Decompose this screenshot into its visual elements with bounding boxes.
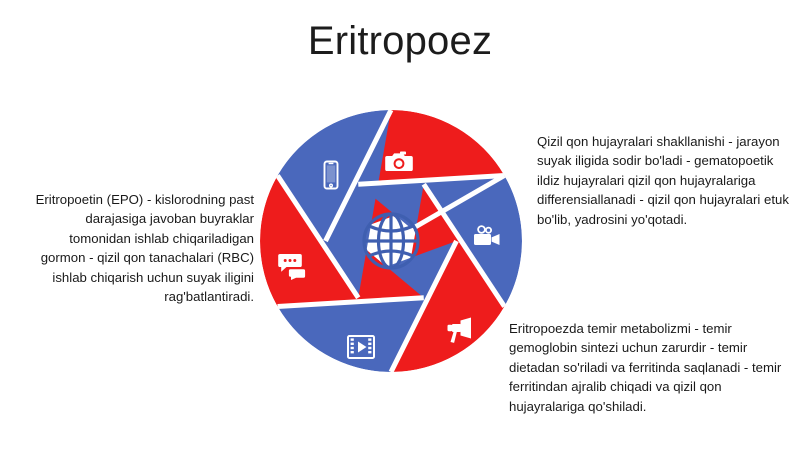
page-title: Eritropoez xyxy=(0,18,800,64)
callout-text-bottom-right: Eritropoezda temir metabolizmi - temir g… xyxy=(509,319,789,416)
presentation-slide: Eritropoez Eritropoetin (EPO) - kislorod… xyxy=(0,0,800,449)
callout-text-top-right: Qizil qon hujayralari shakllanishi - jar… xyxy=(537,132,789,229)
aperture-diagram xyxy=(259,109,523,373)
globe-icon xyxy=(357,207,425,275)
callout-text-left: Eritropoetin (EPO) - kislorodning past d… xyxy=(22,190,254,306)
